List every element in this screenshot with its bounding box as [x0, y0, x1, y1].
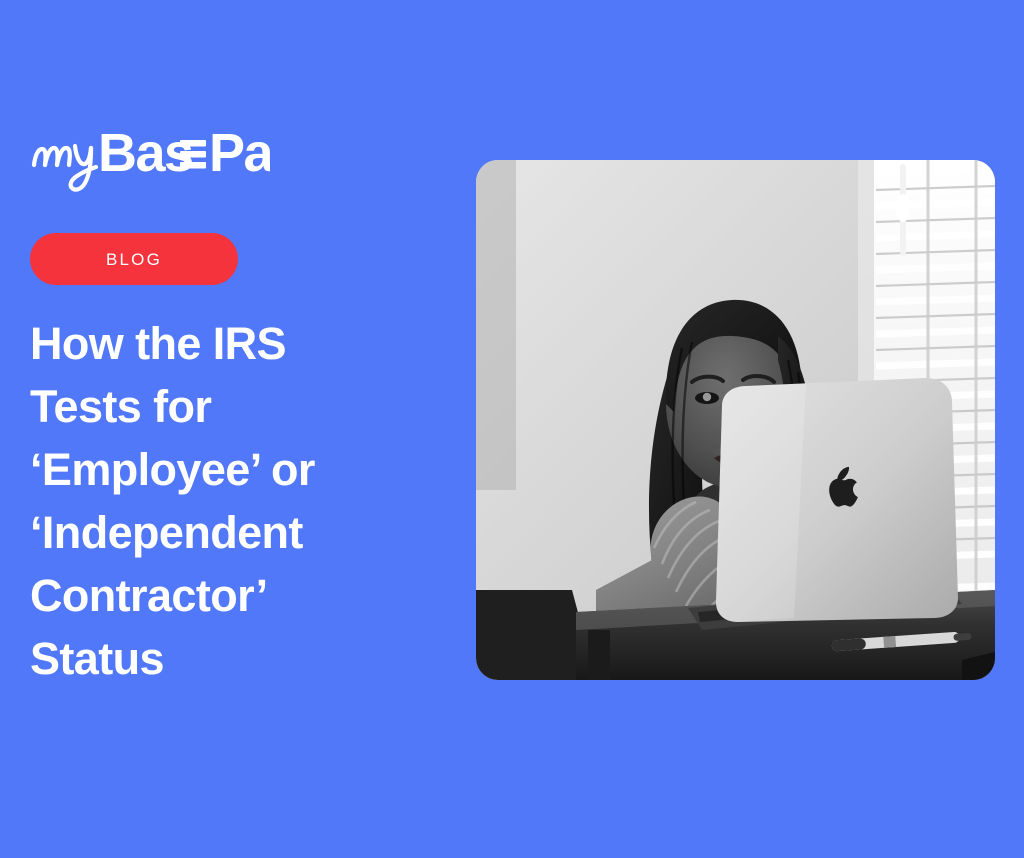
- hero-photo-artwork: [476, 160, 995, 680]
- headline-line: How the IRS: [30, 312, 410, 375]
- logo-script-my-icon: [34, 146, 96, 190]
- headline-line: Status: [30, 627, 410, 690]
- blog-badge[interactable]: BLOG: [30, 233, 238, 285]
- logo-wordmark-bas: Bas: [98, 123, 193, 183]
- headline-line: ‘Employee’ or: [30, 438, 410, 501]
- logo-equals-bars-icon: [180, 140, 206, 169]
- blog-promo-card: Bas Pay BLOG How the IRS Tests for ‘Empl…: [0, 0, 1024, 858]
- blog-badge-label: BLOG: [106, 251, 162, 268]
- headline-line: Tests for: [30, 375, 410, 438]
- hero-photo: [476, 160, 995, 680]
- headline-line: Contractor’: [30, 564, 410, 627]
- headline-line: ‘Independent: [30, 501, 410, 564]
- logo-artwork: Bas Pay: [30, 118, 270, 192]
- mybasepay-logo[interactable]: Bas Pay: [30, 118, 270, 188]
- page-title: How the IRS Tests for ‘Employee’ or ‘Ind…: [30, 312, 410, 690]
- logo-wordmark-pay: Pay: [209, 123, 270, 183]
